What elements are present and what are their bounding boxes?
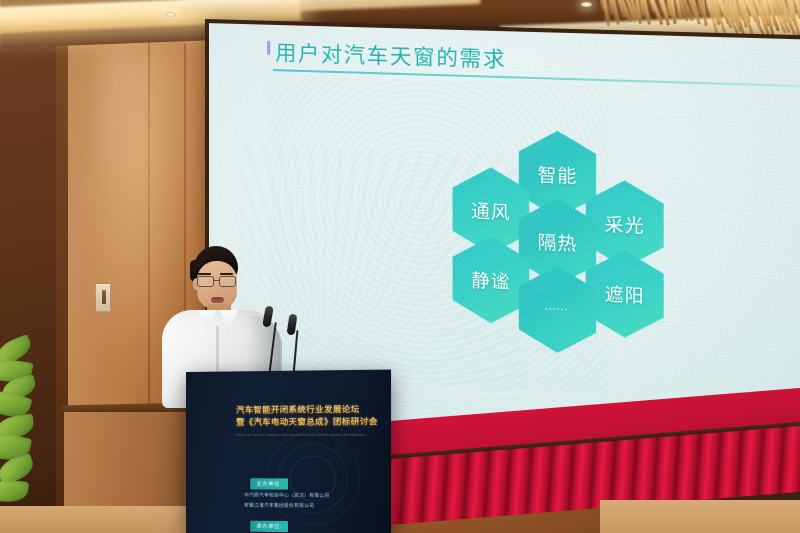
podium: 汽车智能开闭系统行业发展论坛 暨《汽车电动天窗总成》团标研讨会 Forum on… <box>186 370 391 533</box>
podium-host-org-1: 中汽研汽车检验中心（武汉）有限公司 <box>244 492 329 499</box>
speaker-eyebrow <box>198 273 211 275</box>
floor-right <box>600 500 800 533</box>
recessed-spotlight <box>581 2 592 7</box>
podium-title-line-1: 汽车智能开闭系统行业发展论坛 <box>236 403 385 416</box>
recessed-spotlight <box>165 12 176 17</box>
podium-title-line-2: 暨《汽车电动天窗总成》团标研讨会 <box>236 415 385 428</box>
conference-photo-scene: 用户对汽车天窗的需求 智能 通风 采光 <box>0 0 800 533</box>
speaker-mouth <box>211 297 224 303</box>
eyeglass-bridge <box>214 280 219 281</box>
potted-plant <box>0 330 64 530</box>
eyeglass-lens <box>219 276 236 287</box>
eyeglasses <box>195 276 239 287</box>
podium-subtitle-english: Forum on Vehicle Intelligent Opening and… <box>236 432 391 436</box>
eyeglass-lens <box>197 276 214 287</box>
podium-coorganizer-label: 承办单位: <box>250 521 288 533</box>
podium-host-org-2: 安徽江淮汽车集团股份有限公司 <box>244 502 314 509</box>
podium-host-label: 主办单位: <box>250 478 288 489</box>
light-switch[interactable] <box>95 283 111 312</box>
speaker-eyebrow <box>220 273 233 275</box>
lower-wall-panel <box>64 412 190 516</box>
